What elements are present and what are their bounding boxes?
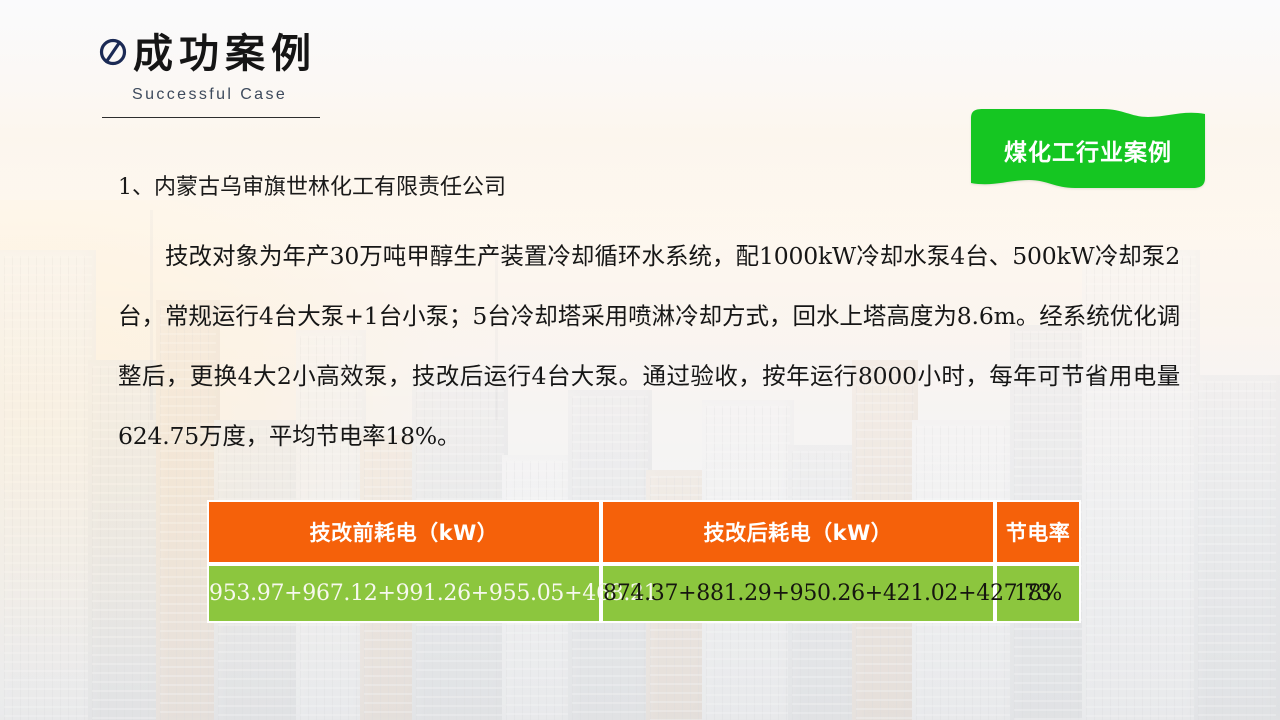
slide-header: 成功案例 Successful Case <box>95 34 515 118</box>
title-divider <box>102 117 320 118</box>
table-header-row: 技改前耗电（kW） 技改后耗电（kW） 节电率 <box>207 500 1081 564</box>
content-body: 1、内蒙古乌审旗世林化工有限责任公司 技改对象为年产30万吨甲醇生产装置冷却循环… <box>118 176 1180 466</box>
slide-canvas: 成功案例 Successful Case 煤化工行业案例 1、内蒙古乌审旗世林化… <box>0 0 1280 720</box>
cell-after-values: 874.37+881.29+950.26+421.02+427.73 <box>601 564 995 623</box>
energy-comparison-table: 技改前耗电（kW） 技改后耗电（kW） 节电率 953.97+967.12+99… <box>207 500 1081 623</box>
cell-before-values: 953.97+967.12+991.26+955.05+468.21 <box>207 564 601 623</box>
table-header-saving-rate: 节电率 <box>995 500 1081 564</box>
page-title: 成功案例 <box>133 34 317 74</box>
slash-circle-icon <box>95 34 131 70</box>
title-row: 成功案例 <box>95 34 515 74</box>
case-heading: 1、内蒙古乌审旗世林化工有限责任公司 <box>118 176 1180 200</box>
page-subtitle: Successful Case <box>132 86 515 104</box>
table-header-before: 技改前耗电（kW） <box>207 500 601 564</box>
table-header-after: 技改后耗电（kW） <box>601 500 995 564</box>
table-row: 953.97+967.12+991.26+955.05+468.21 874.3… <box>207 564 1081 623</box>
case-paragraph: 技改对象为年产30万吨甲醇生产装置冷却循环水系统，配1000kW冷却水泵4台、5… <box>118 226 1180 466</box>
